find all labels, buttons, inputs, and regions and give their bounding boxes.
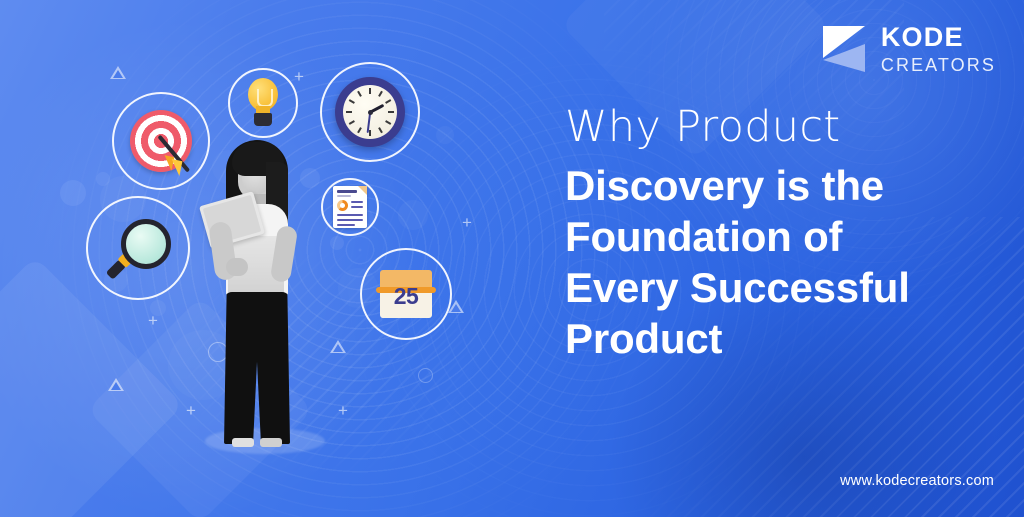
magnifier-icon-bubble[interactable] [86,196,190,300]
headline-block: Why Product Discovery is the Foundation … [565,105,1005,365]
document-icon [333,186,367,228]
target-icon-bubble[interactable] [112,92,210,190]
magnifier-icon [107,217,169,279]
plus-mark: + [148,312,158,329]
plus-mark: + [462,214,472,231]
circle-outline [418,368,433,383]
headline-line-light: Why Product [565,105,1005,150]
person-trousers [224,292,290,444]
website-url[interactable]: www.kodecreators.com [840,473,994,489]
headline-bold-line-1: Discovery is the [565,160,1005,211]
plus-mark: + [186,402,196,419]
clock-tick [349,120,355,125]
bokeh-dot [398,200,428,230]
bulb-filament [257,89,273,107]
bokeh-dot [436,126,454,144]
document-title-line [337,190,357,193]
document-subtitle-line [337,195,351,197]
clock-tick [346,111,352,113]
bokeh-dot [150,300,166,316]
document-text-line [337,219,363,221]
document-text-line [337,214,363,216]
headline-bold-line-2: Foundation of [565,211,1005,262]
clock-center-pin [368,110,373,115]
triangle-outline [110,66,126,79]
person-hand [226,258,248,276]
arrow-fletching [169,159,183,176]
plus-mark: + [294,68,304,85]
clock-tick [357,91,362,97]
clock-face [343,85,397,139]
brand-name-secondary: CREATORS [881,56,996,74]
clock-tick [385,99,391,104]
person-shoe-left [232,438,254,447]
person-illustration [198,140,318,452]
brand-logo[interactable]: KODE CREATORS [821,24,996,74]
calendar-day-number: 25 [380,283,432,310]
headline-lines-bold: Discovery is the Foundation of Every Suc… [565,160,1005,365]
clock-tick [369,130,371,136]
bokeh-dot [96,172,110,186]
clock-tick [378,127,383,133]
document-icon-bubble[interactable] [321,178,379,236]
magnifier-lens [121,219,171,269]
clock-tick [378,91,383,97]
bulb-base [254,113,272,126]
clock-tick [388,111,394,113]
calendar-icon-bubble[interactable]: 25 [360,248,452,340]
clock-icon-bubble[interactable] [320,62,420,162]
marketing-banner: + + + + + KODE CREATORS Why Product Disc… [0,0,1024,517]
document-pie-chart [337,200,348,211]
headline-bold-line-4: Product [565,313,1005,364]
clock-tick [385,120,391,125]
document-text-line [351,201,363,203]
clock-tick [349,99,355,104]
brand-name-primary: KODE [881,24,996,51]
kode-k-mark-icon [821,24,867,74]
headline-bold-line-3: Every Successful [565,262,1005,313]
bokeh-dot [60,180,86,206]
lightbulb-icon-bubble[interactable] [228,68,298,138]
document-text-line [337,224,355,226]
document-corner-fold [358,186,367,195]
brand-logo-text: KODE CREATORS [881,24,996,74]
document-text-line [351,206,363,208]
bokeh-dot [330,236,344,250]
calendar-icon: 25 [380,270,432,318]
lightbulb-icon [243,78,283,128]
triangle-outline [330,340,346,353]
target-icon [130,110,192,172]
clock-icon [335,77,405,147]
plus-mark: + [338,402,348,419]
person-shoe-right [260,438,282,447]
triangle-outline [108,378,124,391]
clock-tick [369,88,371,94]
clock-tick [357,127,362,133]
